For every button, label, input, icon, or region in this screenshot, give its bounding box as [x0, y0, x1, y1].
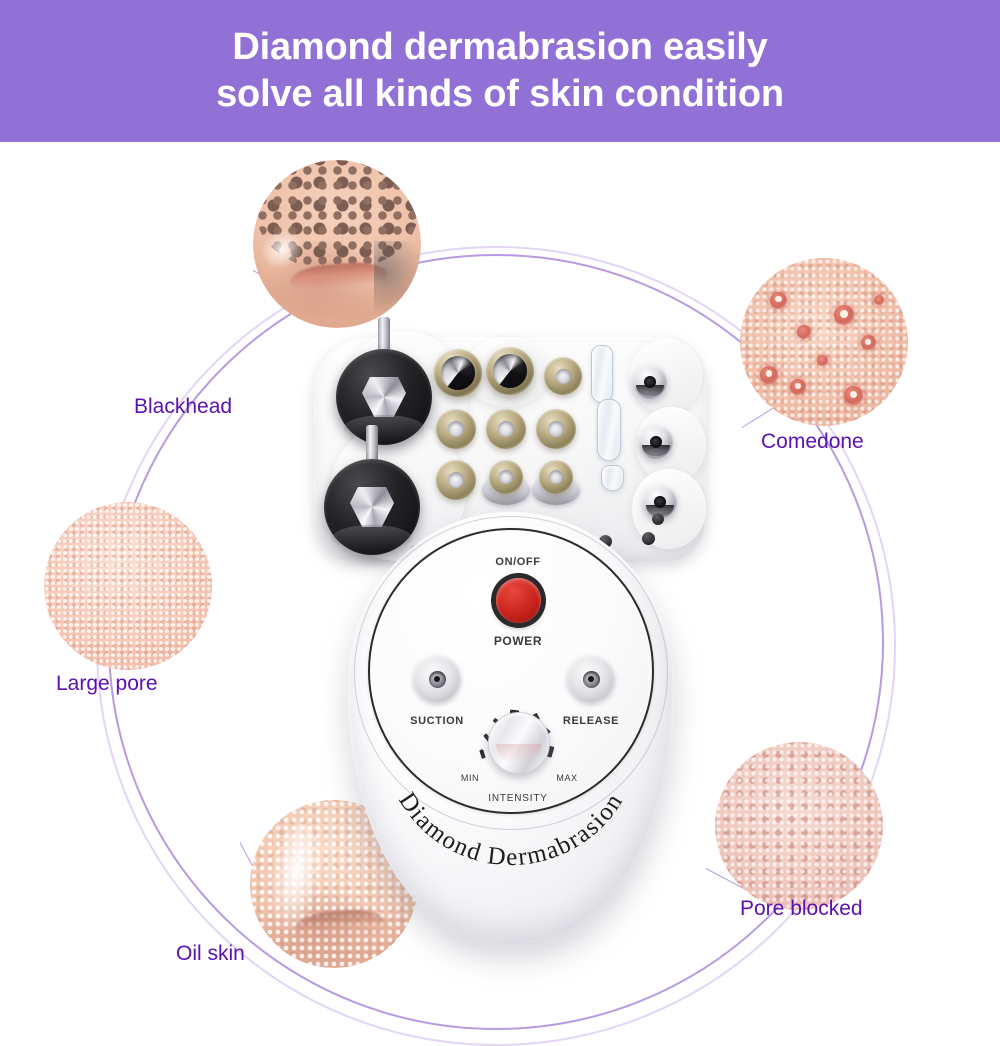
diamond-tip[interactable] — [489, 460, 523, 494]
condition-photo-comedone — [740, 258, 908, 426]
chrome-tip[interactable] — [633, 365, 667, 399]
handpiece-chuck — [350, 487, 394, 527]
brand-text-path: Diamond Dermabrasion — [393, 788, 628, 871]
comedone-spot — [760, 366, 778, 384]
illustration-stage: Blackhead Comedone Large pore Pore block… — [0, 142, 1000, 1000]
tip-bore — [644, 376, 656, 388]
tip-bore — [556, 369, 571, 384]
diamond-tip[interactable] — [434, 349, 482, 397]
diamond-tip[interactable] — [536, 409, 576, 449]
diamond-tip[interactable] — [539, 460, 573, 494]
diamond-tip[interactable] — [486, 347, 534, 395]
tip-bore — [448, 472, 464, 488]
handpiece-lower[interactable] — [322, 425, 422, 565]
diamond-tip[interactable] — [436, 460, 476, 500]
handpiece-head — [324, 459, 420, 555]
condition-photo-pore-blocked — [715, 742, 883, 910]
comedone-spot — [770, 292, 787, 309]
condition-label-large-pore: Large pore — [56, 672, 158, 696]
tip-bore — [549, 470, 563, 484]
comedone-spot — [844, 386, 863, 405]
device-body: ON/OFF POWER SUCTION RELEASE — [348, 512, 674, 942]
skin-grain-comedone — [740, 258, 908, 426]
banner-title-line-1: Diamond dermabrasion easily — [232, 24, 767, 71]
condition-label-oil-skin: Oil skin — [176, 942, 245, 966]
tip-bore — [548, 421, 564, 437]
tip-bore — [448, 421, 464, 437]
onoff-label: ON/OFF — [477, 556, 559, 568]
rubber-foot — [642, 532, 655, 545]
condition-label-pore-blocked: Pore blocked — [740, 897, 863, 921]
tip-bore — [499, 470, 513, 484]
condition-photo-large-pore — [44, 502, 212, 670]
tip-wedge — [493, 354, 528, 389]
condition-label-blackhead: Blackhead — [134, 395, 232, 419]
brand-text: Diamond Dermabrasion — [393, 788, 628, 871]
skin-grain-large-pore — [44, 502, 212, 670]
handpiece-chuck — [362, 377, 406, 417]
banner-title-line-2: solve all kinds of skin condition — [216, 71, 784, 118]
chrome-tip[interactable] — [639, 425, 673, 459]
tip-bore — [654, 496, 666, 508]
glass-tube[interactable] — [597, 399, 621, 461]
diamond-tip[interactable] — [436, 409, 476, 449]
handpiece-stem — [366, 425, 378, 463]
header-banner: Diamond dermabrasion easily solve all ki… — [0, 0, 1000, 142]
rubber-foot — [652, 513, 664, 525]
diamond-tip[interactable] — [544, 357, 582, 395]
glass-cap[interactable] — [601, 465, 624, 491]
brand-text-arc: Diamond Dermabrasion — [366, 608, 656, 898]
nose-shadow — [374, 241, 421, 317]
dermabrasion-device: ON/OFF POWER SUCTION RELEASE — [300, 317, 720, 992]
comedone-spot — [834, 305, 854, 325]
tip-wedge — [441, 356, 476, 391]
tip-bore — [498, 421, 514, 437]
skin-grain-pore-blocked — [715, 742, 883, 910]
diamond-tip[interactable] — [486, 409, 526, 449]
tip-bore — [650, 436, 662, 448]
condition-label-comedone: Comedone — [761, 430, 864, 454]
condition-photo-blackhead — [253, 160, 421, 328]
glass-tube[interactable] — [591, 345, 613, 403]
